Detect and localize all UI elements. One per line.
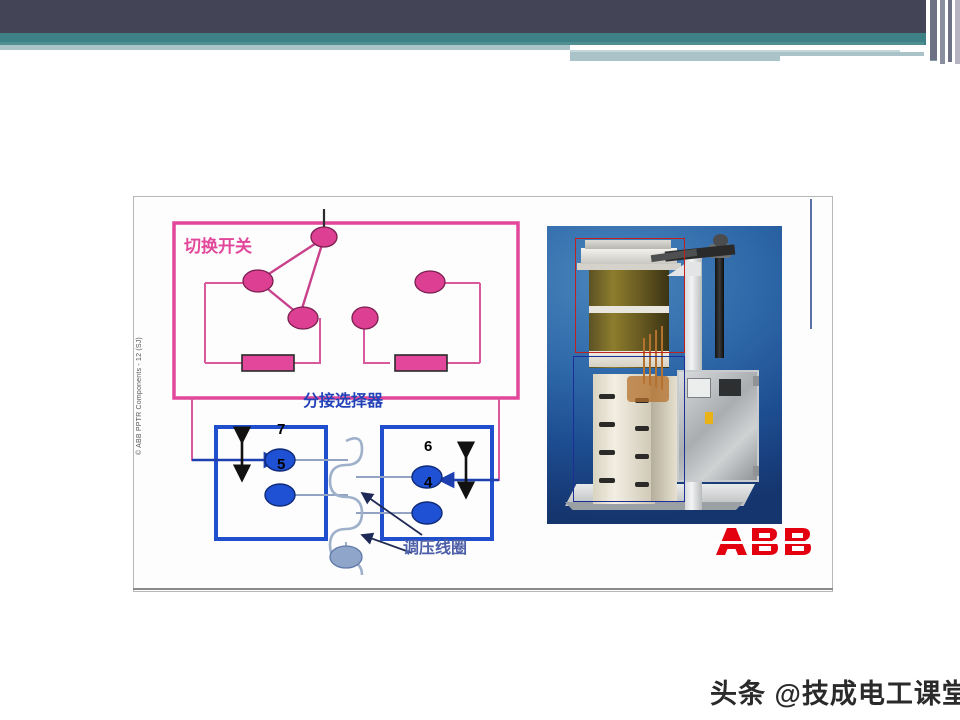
right-accent-rule — [810, 199, 812, 329]
label-tap-selector: 分接选择器 — [303, 387, 383, 411]
photo-highlight-selector — [573, 356, 685, 502]
diverter-contact-right-upper — [415, 271, 445, 293]
watermark-text: 头条 @技成电工课堂 — [710, 672, 960, 711]
header-strip-c — [570, 52, 750, 61]
abb-logo — [714, 524, 830, 564]
link-right-down — [437, 398, 499, 480]
diverter-contact-left-lower — [288, 307, 318, 329]
photo-drive-rod — [715, 252, 724, 358]
slide-header-band — [0, 0, 960, 72]
tap-number-6: 6 — [424, 438, 432, 455]
header-strip-f — [570, 61, 924, 65]
photo-cabinet-panel — [719, 379, 741, 396]
diverter-contact-pivot — [311, 227, 337, 247]
switch-arm-a — [300, 238, 324, 315]
winding-end-terminal — [330, 546, 362, 568]
on-load-tap-changer-photo — [547, 226, 782, 524]
label-diverter-switch: 切换开关 — [184, 232, 252, 257]
diverter-contact-left-upper — [243, 270, 273, 292]
header-vstripe-2 — [930, 0, 937, 60]
transition-resistor-left — [242, 355, 294, 371]
header-vstripe-8 — [955, 0, 960, 64]
photo-cabinet-hinge — [753, 376, 759, 386]
tap-number-4: 4 — [424, 474, 432, 491]
transition-resistor-right — [395, 355, 447, 371]
selector-contact-4 — [412, 502, 442, 524]
selector-contact-5 — [265, 484, 295, 506]
diverter-contact-right-lower — [352, 307, 378, 329]
tap-number-5: 5 — [277, 456, 285, 473]
photo-highlight-diverter — [575, 238, 685, 353]
tap-number-7: 7 — [277, 421, 285, 438]
label-regulating-winding: 调压线圈 — [403, 534, 467, 558]
content-frame-underline — [133, 588, 833, 590]
photo-cabinet-hinge — [753, 466, 759, 476]
photo-cabinet-latch — [705, 412, 713, 424]
photo-cabinet-gauge — [687, 378, 711, 398]
header-dark-bar — [0, 0, 960, 33]
header-teal-bar — [0, 33, 960, 42]
tap-selector-box-left — [216, 427, 326, 539]
copyright-text: © ABB PPTR Components - 12 (SJ) — [133, 335, 147, 455]
